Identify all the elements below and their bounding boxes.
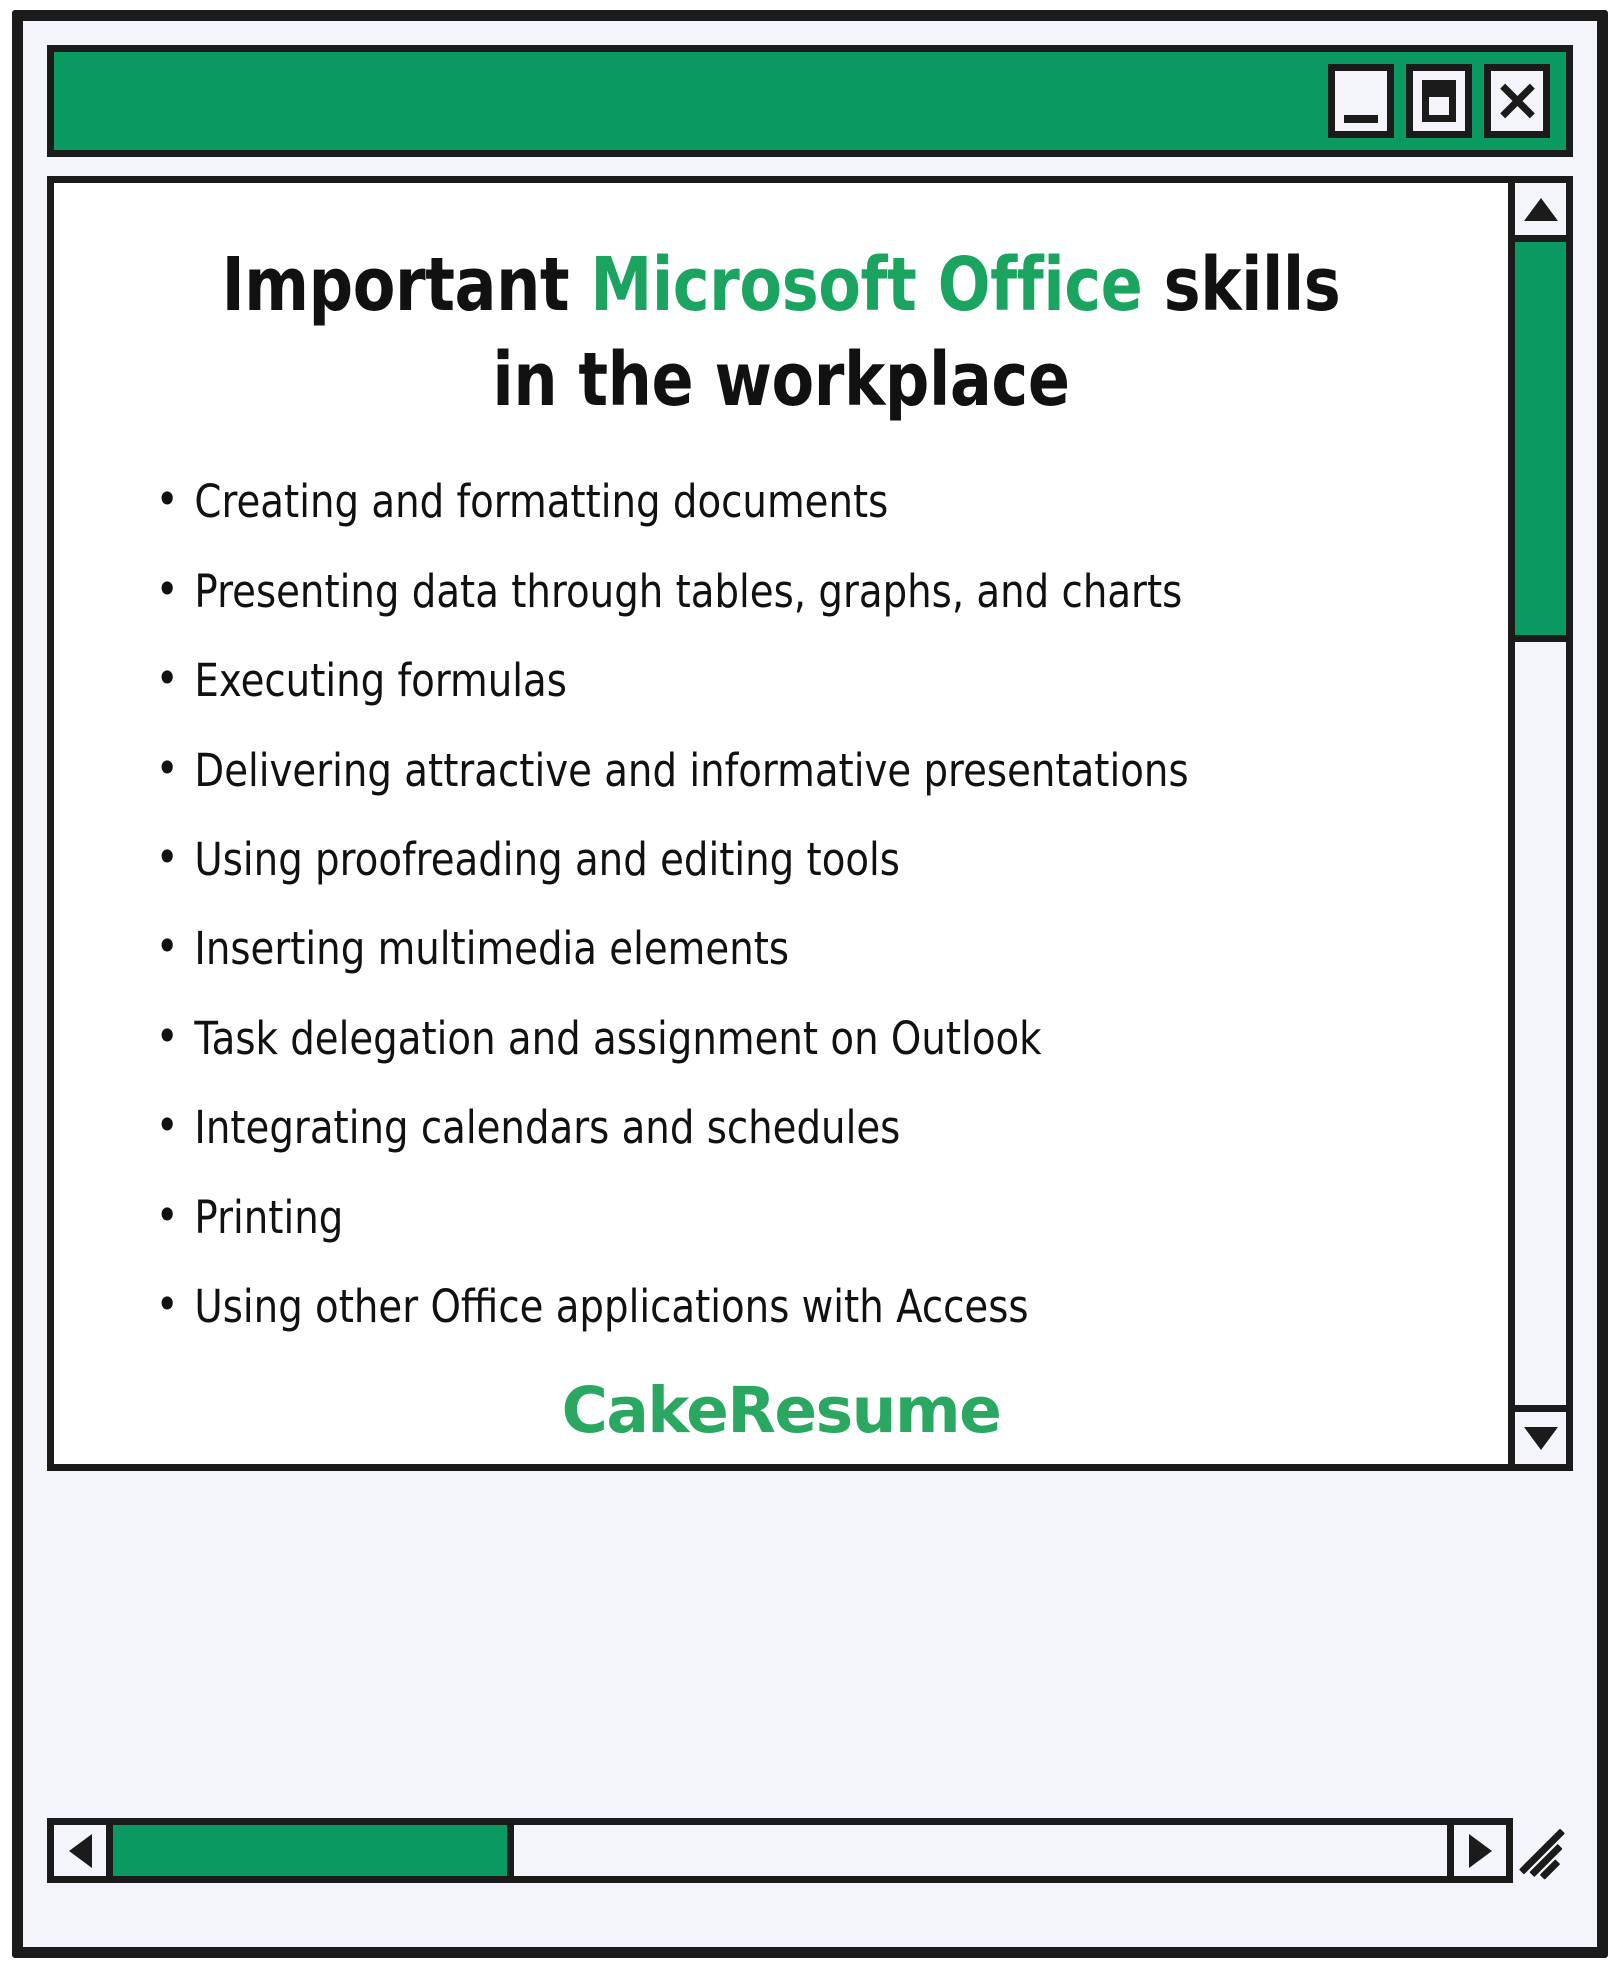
- maximize-icon: [1422, 80, 1456, 122]
- close-icon: [1491, 71, 1543, 131]
- slide-title-part1: Important: [222, 242, 591, 328]
- skills-bullet-list: Creating and formatting documents Presen…: [54, 477, 1508, 1332]
- horizontal-scroll-track[interactable]: [113, 1825, 1447, 1876]
- slide-title-part2: skills: [1142, 242, 1340, 328]
- list-item: Integrating calendars and schedules: [154, 1103, 1284, 1153]
- slide-title-line2: in the workplace: [492, 337, 1069, 423]
- triangle-up-icon: [1524, 198, 1558, 221]
- minimize-icon: [1344, 115, 1378, 123]
- scroll-down-button[interactable]: [1515, 1405, 1566, 1464]
- list-item: Using proofreading and editing tools: [154, 835, 1284, 885]
- title-bar[interactable]: [47, 45, 1573, 157]
- triangle-right-icon: [1469, 1834, 1492, 1868]
- slide-title-accent: Microsoft Office: [590, 242, 1142, 328]
- slide-title: Important Microsoft Office skills in the…: [204, 238, 1358, 427]
- application-window: Important Microsoft Office skills in the…: [12, 10, 1608, 1958]
- vertical-scroll-track[interactable]: [1515, 242, 1566, 1405]
- maximize-button[interactable]: [1406, 64, 1472, 138]
- triangle-left-icon: [69, 1834, 92, 1868]
- resize-grip-icon[interactable]: [1513, 1818, 1573, 1883]
- vertical-scroll-thumb[interactable]: [1515, 242, 1566, 642]
- list-item: Creating and formatting documents: [154, 477, 1284, 527]
- list-item: Printing: [154, 1193, 1284, 1243]
- scroll-right-button[interactable]: [1447, 1825, 1506, 1876]
- scroll-up-button[interactable]: [1515, 183, 1566, 242]
- horizontal-scrollbar[interactable]: [47, 1818, 1513, 1883]
- list-item: Task delegation and assignment on Outloo…: [154, 1014, 1284, 1064]
- content-panel: Important Microsoft Office skills in the…: [47, 176, 1573, 1471]
- cakeresume-logo: CakeResume: [54, 1374, 1508, 1447]
- close-button[interactable]: [1484, 64, 1550, 138]
- vertical-scrollbar[interactable]: [1508, 183, 1566, 1464]
- list-item: Executing formulas: [154, 656, 1284, 706]
- minimize-button[interactable]: [1328, 64, 1394, 138]
- list-item: Inserting multimedia elements: [154, 924, 1284, 974]
- horizontal-scrollbar-row: [47, 1818, 1573, 1883]
- list-item: Presenting data through tables, graphs, …: [154, 567, 1284, 617]
- list-item: Using other Office applications with Acc…: [154, 1282, 1284, 1332]
- slide-canvas: Important Microsoft Office skills in the…: [54, 183, 1508, 1464]
- horizontal-scroll-thumb[interactable]: [113, 1825, 514, 1876]
- triangle-down-icon: [1524, 1427, 1558, 1450]
- scroll-left-button[interactable]: [54, 1825, 113, 1876]
- list-item: Delivering attractive and informative pr…: [154, 746, 1284, 796]
